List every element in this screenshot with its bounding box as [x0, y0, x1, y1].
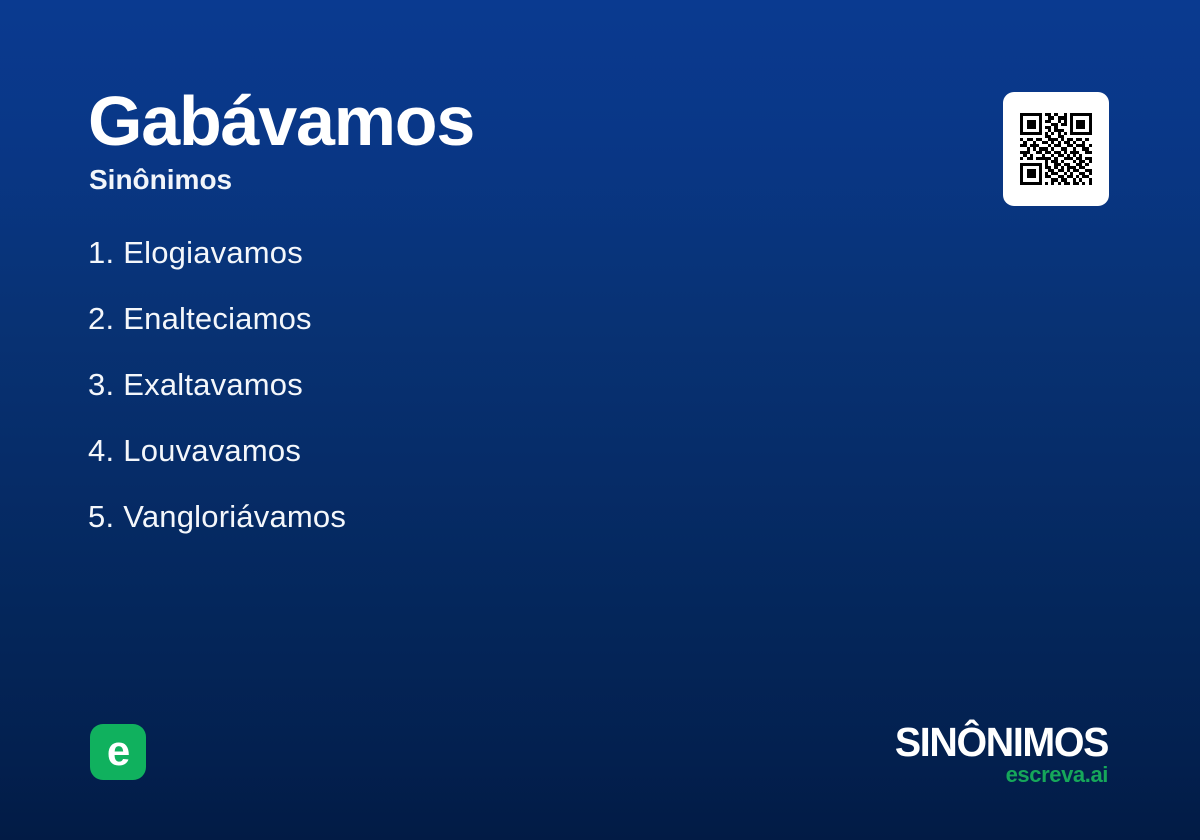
- list-item-label: Exaltavamos: [123, 368, 303, 402]
- brand-domain: escreva.ai: [886, 763, 1108, 787]
- list-item: 1. Elogiavamos: [88, 236, 888, 302]
- page-title: Gabávamos: [88, 86, 474, 156]
- list-item-index: 5.: [88, 500, 114, 534]
- escreva-e-badge-icon: e: [90, 724, 146, 780]
- synonym-list: 1. Elogiavamos 2. Enalteciamos 3. Exalta…: [88, 236, 888, 566]
- list-item: 2. Enalteciamos: [88, 302, 888, 368]
- list-item-index: 2.: [88, 302, 114, 336]
- list-item-label: Louvavamos: [123, 434, 301, 468]
- list-item: 4. Louvavamos: [88, 434, 888, 500]
- qr-code-icon[interactable]: [1003, 92, 1109, 206]
- list-item-index: 1.: [88, 236, 114, 270]
- list-item: 5. Vangloriávamos: [88, 500, 888, 566]
- escreva-e-badge-letter: e: [107, 730, 129, 772]
- qr-code-modules: [1011, 104, 1101, 194]
- list-item-label: Vangloriávamos: [123, 500, 346, 534]
- list-item-index: 3.: [88, 368, 114, 402]
- synonym-card: Gabávamos Sinônimos 1. Elogiavamos 2. En…: [0, 0, 1200, 840]
- list-item-label: Enalteciamos: [123, 302, 312, 336]
- brand-name: SINÔNIMOS: [895, 722, 1108, 762]
- list-item-label: Elogiavamos: [123, 236, 303, 270]
- list-item-index: 4.: [88, 434, 114, 468]
- page-subtitle: Sinônimos: [89, 166, 232, 194]
- list-item: 3. Exaltavamos: [88, 368, 888, 434]
- brand-logo: SINÔNIMOS escreva.ai: [886, 722, 1108, 787]
